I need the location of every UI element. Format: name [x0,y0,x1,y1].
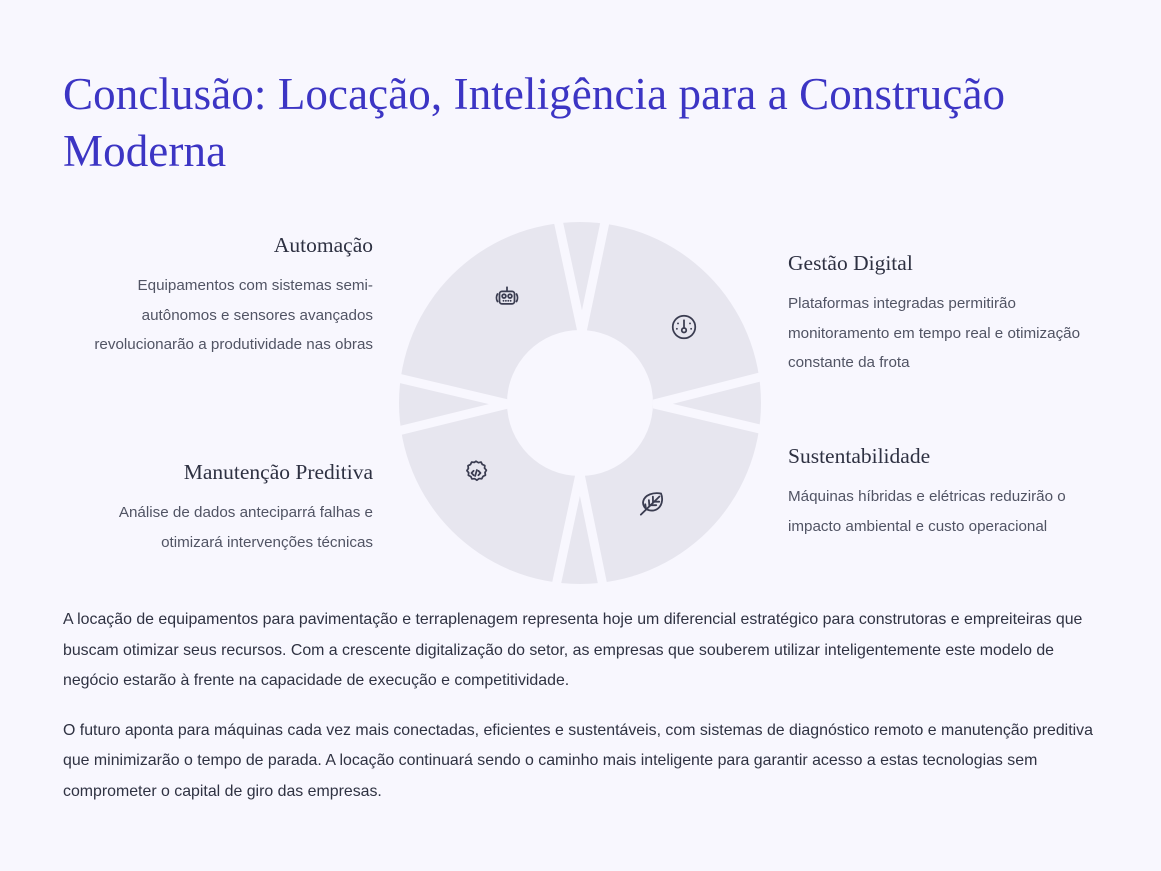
quadrant-sustentabilidade: Sustentabilidade Máquinas híbridas e elé… [788,443,1098,541]
page-title: Conclusão: Locação, Inteligência para a … [63,66,1023,180]
donut-ring [399,222,761,584]
robot-icon [492,282,522,312]
quadrant-automacao-heading: Automação [63,232,373,258]
quadrant-gestao-body: Plataformas integradas permitirão monito… [788,289,1098,378]
cycle-diagram [398,220,764,586]
gear-code-icon [461,458,491,488]
quadrant-manutencao: Manutenção Preditiva Análise de dados an… [63,459,373,557]
quadrant-sustentabilidade-body: Máquinas híbridas e elétricas reduzirão … [788,482,1098,541]
paragraph-2: O futuro aponta para máquinas cada vez m… [63,716,1100,808]
paragraph-1: A locação de equipamentos para pavimenta… [63,605,1100,697]
leaf-icon [637,488,668,519]
quadrant-sustentabilidade-heading: Sustentabilidade [788,443,1098,469]
quadrant-gestao: Gestão Digital Plataformas integradas pe… [788,250,1098,378]
gauge-icon [669,312,699,342]
slide-root: Conclusão: Locação, Inteligência para a … [0,0,1161,871]
quadrant-manutencao-heading: Manutenção Preditiva [63,459,373,485]
conclusion-paragraphs: A locação de equipamentos para pavimenta… [63,605,1100,807]
quadrant-automacao: Automação Equipamentos com sistemas semi… [63,232,373,360]
quadrant-manutencao-body: Análise de dados anteciparrá falhas e ot… [63,498,373,557]
quadrant-gestao-heading: Gestão Digital [788,250,1098,276]
quadrant-automacao-body: Equipamentos com sistemas semi-autônomos… [63,271,373,360]
